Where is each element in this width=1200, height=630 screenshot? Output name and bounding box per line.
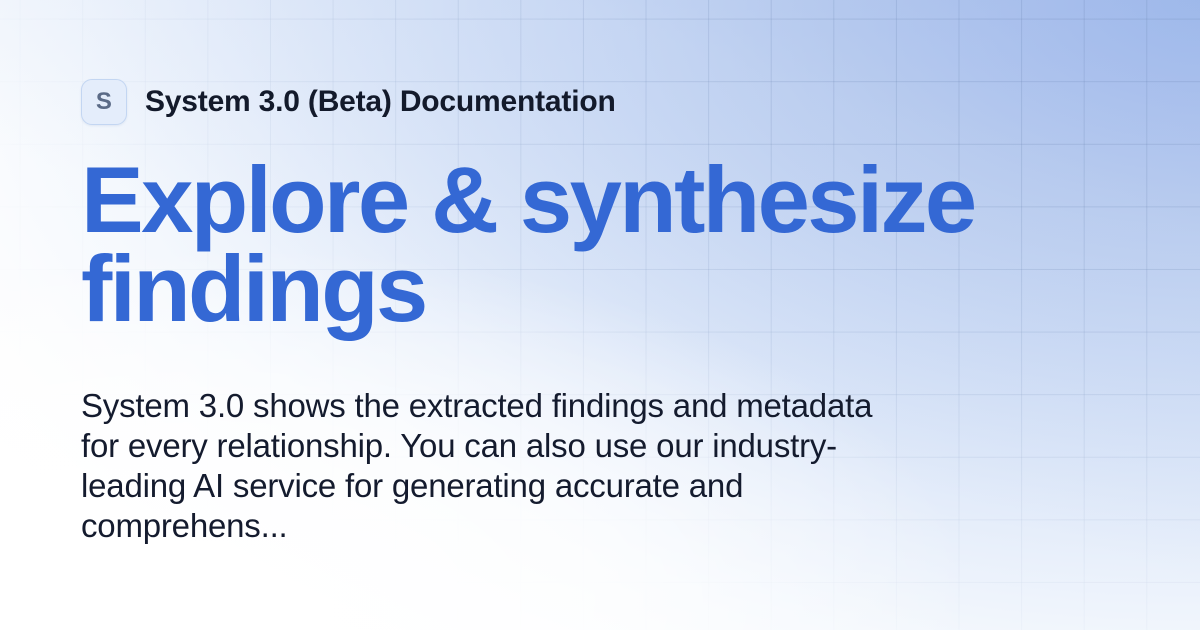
brand-title: System 3.0 (Beta) Documentation: [145, 85, 616, 119]
brand-badge-letter: S: [96, 90, 112, 114]
brand-row: S System 3.0 (Beta) Documentation: [81, 79, 616, 125]
page-description: System 3.0 shows the extracted findings …: [81, 386, 881, 546]
content-container: S System 3.0 (Beta) Documentation Explor…: [81, 0, 1121, 630]
letter-s-logo-badge-icon: S: [81, 79, 127, 125]
page-title: Explore & synthesize findings: [81, 155, 1071, 334]
og-card: S System 3.0 (Beta) Documentation Explor…: [0, 0, 1200, 630]
